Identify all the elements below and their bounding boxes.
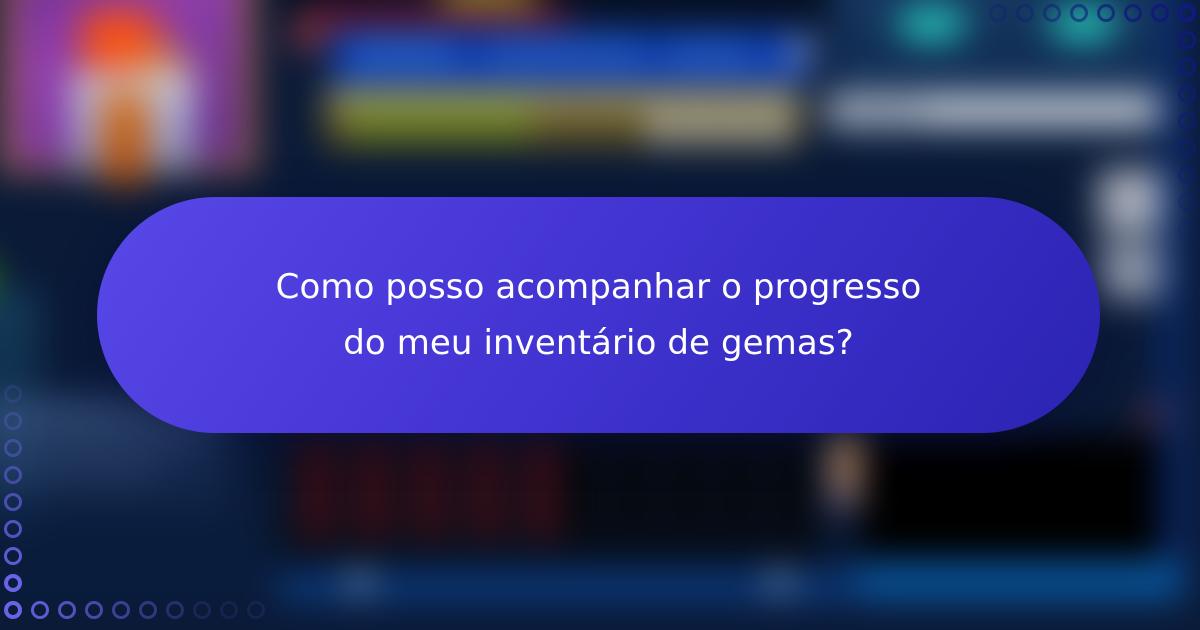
backdrop-card-slots-dark	[569, 437, 829, 541]
backdrop-figure-orange	[101, 91, 149, 185]
decorative-ring	[220, 601, 238, 619]
backdrop-mid-red-glow	[288, 8, 330, 60]
decorative-ring	[193, 601, 211, 619]
backdrop-olive-green	[345, 102, 532, 142]
backdrop-mid-blue-subbar	[332, 73, 810, 88]
backdrop-toolbar-button	[350, 41, 454, 62]
decorative-ring	[4, 574, 22, 592]
backdrop-bottom-icon	[762, 566, 797, 597]
decorative-ring	[166, 601, 184, 619]
decorative-ring	[1151, 4, 1169, 22]
decorative-ring	[1178, 4, 1196, 22]
decorative-ring	[4, 547, 22, 565]
decorative-ring	[58, 601, 76, 619]
decorative-ring	[1124, 4, 1142, 22]
question-card[interactable]: Como posso acompanhar o progresso do meu…	[97, 197, 1100, 433]
backdrop-mid-yellow-chip	[442, 0, 536, 5]
backdrop-toolbar-button	[787, 41, 814, 60]
backdrop-bottom-blue-bar	[860, 561, 1182, 601]
decorative-ring	[989, 4, 1007, 22]
backdrop-bottom-black-box	[860, 435, 1162, 570]
decorative-ring	[1070, 4, 1088, 22]
decorative-ring	[31, 601, 49, 619]
decorative-ring	[1178, 193, 1196, 211]
decorative-ring	[1178, 220, 1196, 238]
backdrop-right-row	[839, 62, 1182, 77]
backdrop-card-slots-red	[300, 437, 581, 541]
decorative-ring	[139, 601, 157, 619]
backdrop-item-row	[652, 114, 798, 141]
decorative-ring	[1178, 139, 1196, 157]
decorative-ring	[1178, 58, 1196, 76]
decorative-ring	[112, 601, 130, 619]
decorative-ring	[1178, 31, 1196, 49]
decorative-ring	[1178, 166, 1196, 184]
decorative-ring	[1097, 4, 1115, 22]
decorative-ring	[85, 601, 103, 619]
backdrop-left-row	[0, 439, 199, 454]
backdrop-toolbar-button	[486, 41, 642, 62]
backdrop-toolbar-button	[668, 41, 751, 62]
decorative-ring	[1016, 4, 1034, 22]
decorative-ring	[4, 493, 22, 511]
decorative-ring	[4, 466, 22, 484]
backdrop-left-bottom-dark	[0, 528, 269, 601]
screenshot-canvas: Como posso acompanhar o progresso do meu…	[0, 0, 1200, 630]
question-text: Como posso acompanhar o progresso do meu…	[219, 259, 979, 371]
decorative-ring	[1178, 112, 1196, 130]
decorative-ring	[4, 520, 22, 538]
backdrop-item-row	[340, 91, 798, 106]
decorative-ring	[4, 412, 22, 430]
decorative-ring	[1178, 85, 1196, 103]
backdrop-cyan-button	[895, 6, 968, 41]
decorative-ring	[4, 385, 22, 403]
backdrop-mid-magenta-bar	[309, 6, 569, 25]
backdrop-bottom-icon	[342, 566, 377, 597]
backdrop-white-bar-inner	[831, 102, 925, 119]
backdrop-left-row	[0, 466, 157, 481]
decorative-ring	[4, 439, 22, 457]
decorative-ring	[4, 601, 22, 619]
decorative-ring	[247, 601, 265, 619]
decorative-ring	[1043, 4, 1061, 22]
